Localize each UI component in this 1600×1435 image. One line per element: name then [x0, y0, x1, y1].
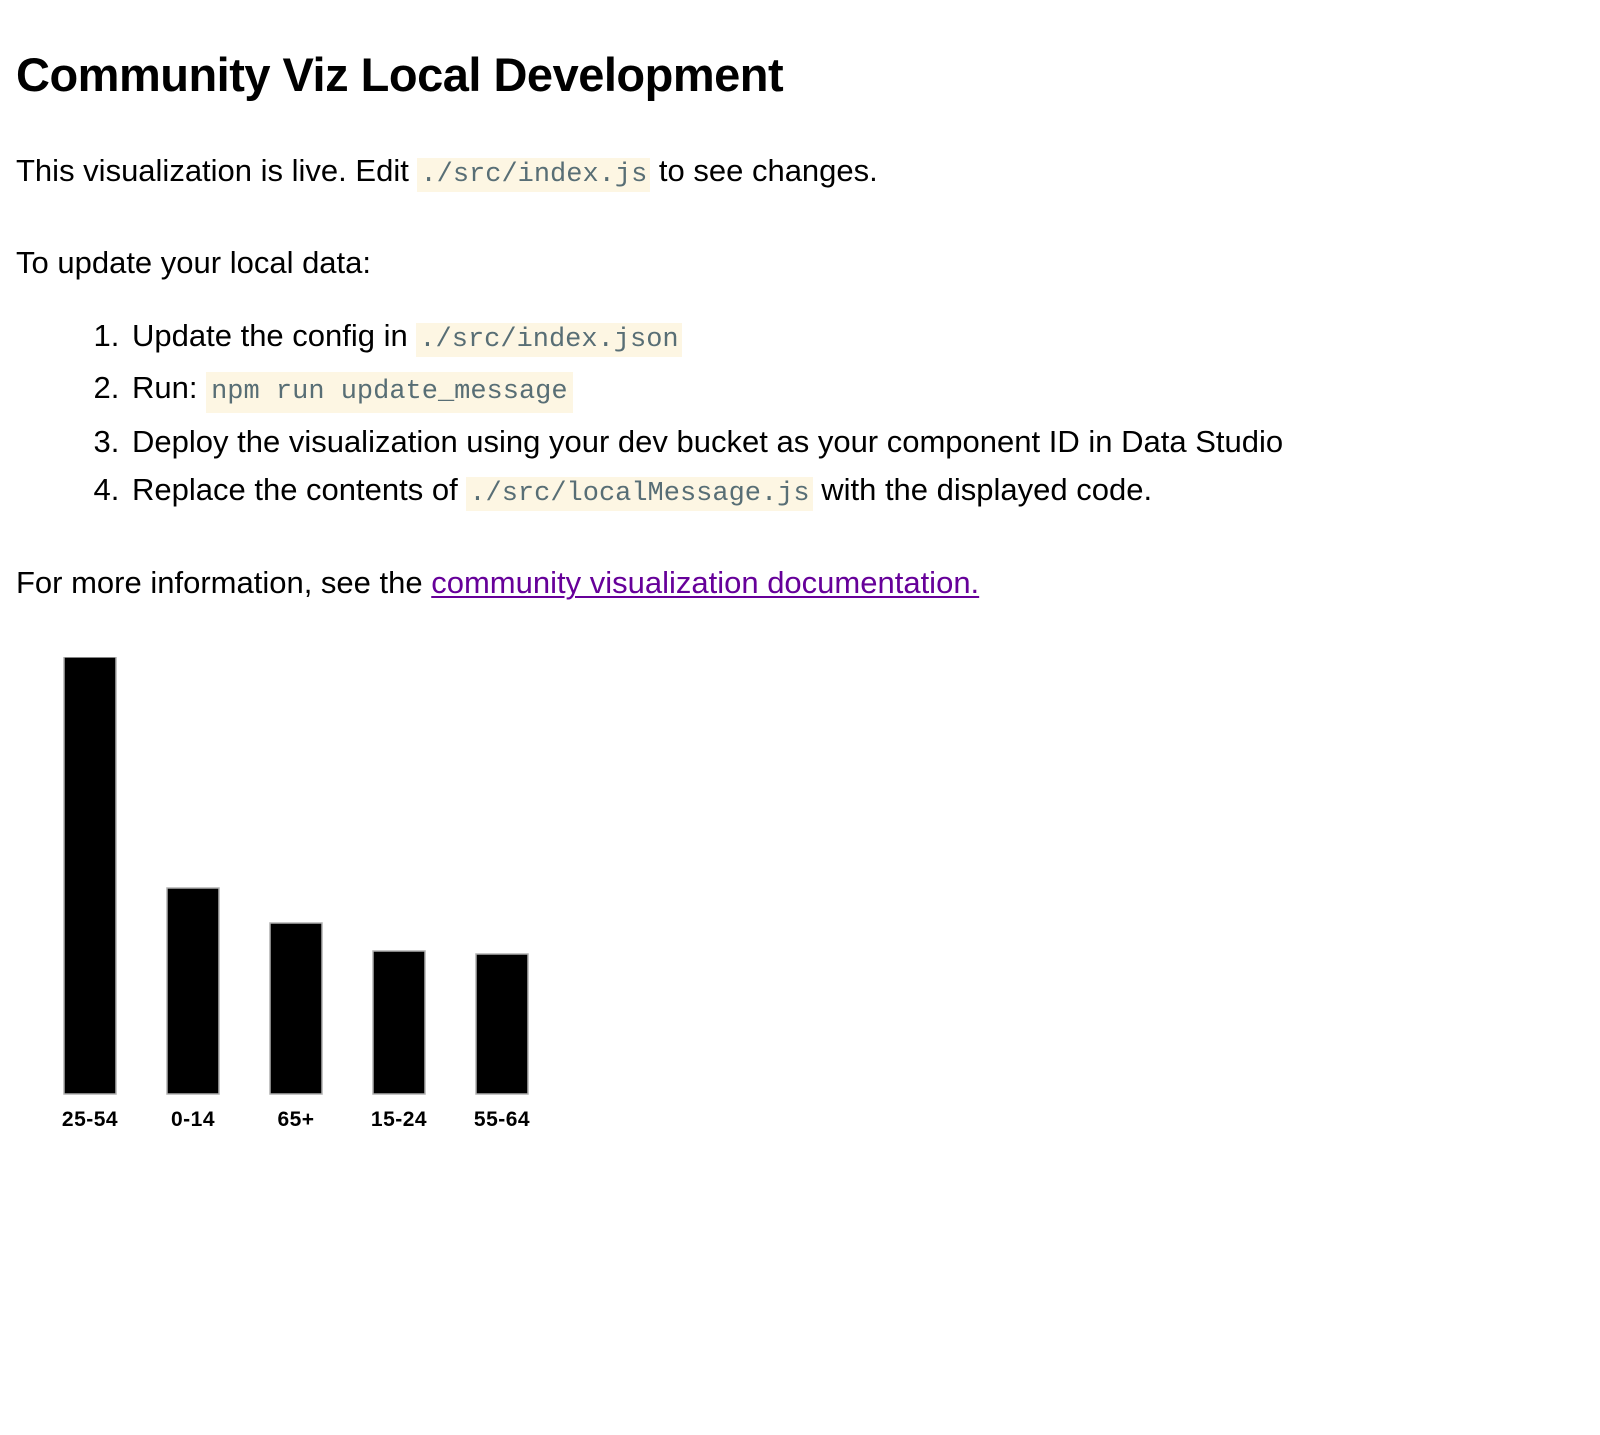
intro-paragraph: This visualization is live. Edit ./src/i… — [16, 102, 1584, 194]
code-index-json: ./src/index.json — [416, 323, 681, 357]
step-4-text-before: Replace the contents of — [132, 472, 466, 507]
more-info-text-before: For more information, see the — [16, 565, 431, 600]
intro-text-before: This visualization is live. Edit — [16, 153, 417, 188]
community-visualization-documentation-link[interactable]: community visualization documentation. — [431, 565, 979, 600]
bars-group — [64, 657, 528, 1094]
x-axis-tick-label: 0-14 — [171, 1108, 215, 1131]
bar[interactable] — [64, 657, 116, 1094]
update-lead-paragraph: To update your local data: — [16, 194, 1584, 283]
steps-list: Update the config in ./src/index.json Ru… — [16, 283, 1584, 513]
x-axis-tick-label: 15-24 — [371, 1108, 427, 1131]
bar[interactable] — [476, 954, 528, 1094]
list-item: Replace the contents of ./src/localMessa… — [128, 469, 1584, 513]
bar[interactable] — [167, 888, 219, 1094]
x-axis-tick-label: 65+ — [277, 1108, 314, 1131]
code-index-js: ./src/index.js — [417, 158, 650, 192]
page-title: Community Viz Local Development — [16, 0, 1584, 102]
bar[interactable] — [270, 923, 322, 1094]
step-3-text: Deploy the visualization using your dev … — [132, 424, 1283, 459]
bar[interactable] — [373, 951, 425, 1094]
list-item: Deploy the visualization using your dev … — [128, 421, 1584, 463]
list-item: Update the config in ./src/index.json — [128, 315, 1584, 359]
step-1-text-before: Update the config in — [132, 318, 416, 353]
page-root: Community Viz Local Development This vis… — [0, 0, 1600, 1177]
intro-text-after: to see changes. — [650, 153, 878, 188]
more-info-paragraph: For more information, see the community … — [16, 519, 1584, 603]
x-axis-tick-label: 25-54 — [62, 1108, 118, 1131]
x-axis-tick-label: 55-64 — [474, 1108, 530, 1131]
bar-chart: 25-540-1465+15-2455-64 — [16, 657, 1584, 1177]
step-2-text: Run: — [132, 370, 197, 405]
step-4-text-after: with the displayed code. — [813, 472, 1153, 507]
code-local-message-js: ./src/localMessage.js — [466, 477, 812, 511]
code-block-npm-run: npm run update_message — [206, 372, 572, 413]
list-item: Run: npm run update_message — [128, 365, 1584, 421]
bar-chart-svg: 25-540-1465+15-2455-64 — [47, 657, 807, 1177]
x-axis-labels-group: 25-540-1465+15-2455-64 — [62, 1108, 530, 1131]
